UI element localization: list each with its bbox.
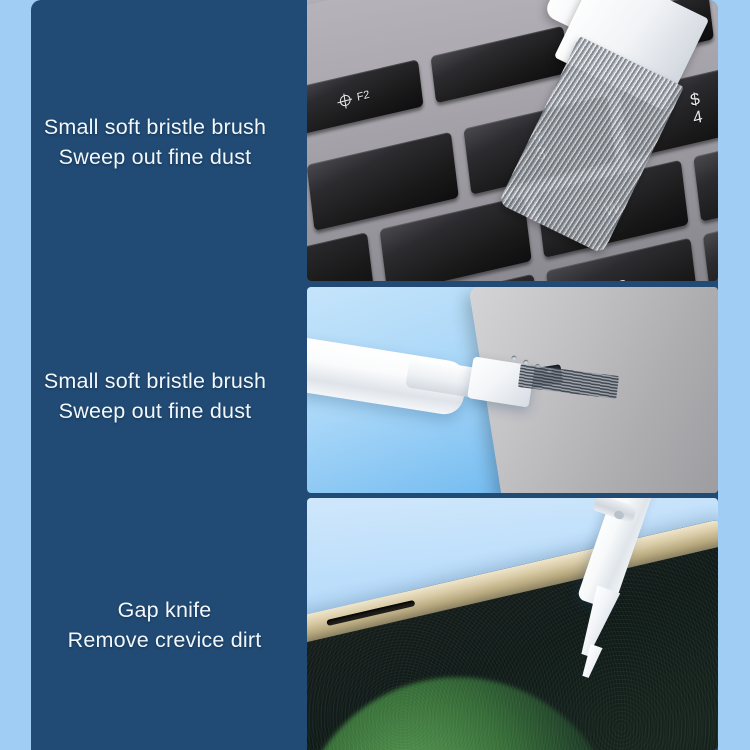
caption-line-2: Remove crevice dirt [32, 625, 297, 655]
photo-brush-port [307, 287, 718, 493]
key-tab-glyph: tab [307, 228, 375, 281]
photo-brush-keyboard: F1 F2 [307, 0, 718, 281]
caption-brush-keyboard: Small soft bristle brush Sweep out fine … [20, 112, 290, 172]
caption-line-1: Small soft bristle brush [20, 366, 290, 396]
cleaning-brush-tool [513, 0, 719, 281]
photo-gap-knife [307, 498, 718, 750]
caption-line-1: Small soft bristle brush [20, 112, 290, 142]
brush-bristles [518, 364, 619, 399]
caption-line-2: Sweep out fine dust [20, 142, 290, 172]
caption-gap-knife: Gap knife Remove crevice dirt [32, 595, 297, 655]
brightness-up-icon [338, 93, 350, 107]
key-tab: tab [307, 231, 375, 281]
product-infographic: F1 F2 [0, 0, 750, 750]
caption-line-2: Sweep out fine dust [20, 396, 290, 426]
key-f2-glyph: F2 [307, 56, 424, 138]
caption-line-1: Gap knife [32, 595, 297, 625]
cleaning-brush-tool [307, 324, 611, 460]
key-f2-label: F2 [356, 88, 370, 103]
caption-brush-port: Small soft bristle brush Sweep out fine … [20, 366, 290, 426]
gap-knife-tool [541, 498, 681, 695]
keyboard-surface: F1 F2 [307, 0, 718, 281]
key-f2: F2 [307, 59, 423, 137]
